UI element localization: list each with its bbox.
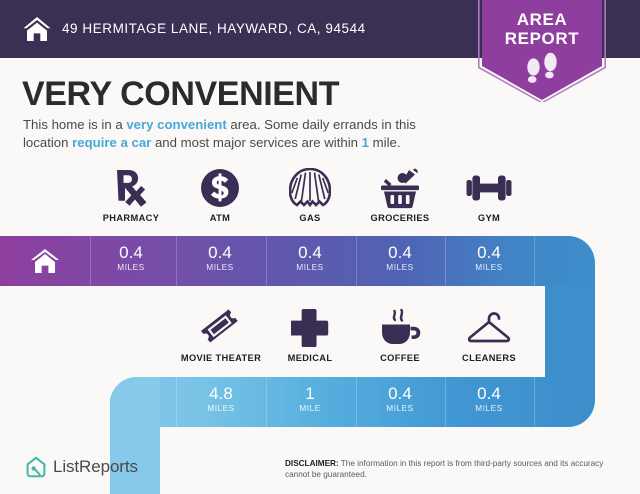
badge-line-2: REPORT — [478, 29, 606, 48]
icon-label: MOVIE THEATER — [176, 353, 266, 363]
distance-unit: MILES — [175, 262, 265, 273]
distance-cell-groceries: 0.4 MILES — [355, 236, 445, 286]
divider — [90, 236, 91, 286]
home-icon — [22, 14, 52, 44]
dollar-circle-icon — [175, 166, 265, 210]
distance-value: 4.8 — [176, 384, 266, 403]
distance-unit: MILES — [444, 262, 534, 273]
property-address: 49 HERMITAGE LANE, HAYWARD, CA, 94544 — [62, 21, 366, 36]
clothes-hanger-icon — [444, 306, 534, 350]
subtitle-part-4: mile. — [369, 135, 401, 150]
listreports-house-icon — [26, 456, 46, 478]
distance-value: 0.4 — [175, 243, 265, 262]
divider — [356, 377, 357, 427]
subtitle-highlight-1: very convenient — [126, 117, 226, 132]
page-subtitle: This home is in a very convenient area. … — [23, 116, 463, 151]
distance-unit: MILES — [444, 403, 534, 414]
medical-cross-icon — [265, 306, 355, 350]
distance-unit: MILES — [265, 262, 355, 273]
disclaimer: DISCLAIMER: The information in this repo… — [285, 458, 613, 481]
distance-value: 0.4 — [444, 243, 534, 262]
icon-cell-pharmacy: PHARMACY — [86, 166, 176, 223]
movie-ticket-icon — [176, 306, 266, 350]
icon-cell-atm: ATM — [175, 166, 265, 223]
subtitle-highlight-2: require a car — [72, 135, 151, 150]
distance-cell-gym: 0.4 MILES — [444, 236, 534, 286]
area-report-badge: AREA REPORT — [478, 0, 606, 102]
distance-cell-coffee: 0.4 MILES — [355, 377, 445, 427]
distance-unit: MILE — [265, 403, 355, 414]
listreports-logo: ListReports — [26, 456, 138, 478]
page-title: VERY CONVENIENT — [22, 75, 339, 114]
icon-cell-movie-theater: MOVIE THEATER — [176, 306, 266, 363]
icon-cell-medical: MEDICAL — [265, 306, 355, 363]
divider — [176, 236, 177, 286]
icon-cell-cleaners: CLEANERS — [444, 306, 534, 363]
icon-row-1: PHARMACY ATM — [0, 166, 640, 236]
distance-cell-atm: 0.4 MILES — [175, 236, 265, 286]
distance-value: 0.4 — [355, 243, 445, 262]
value-row-2: 4.8 MILES 1 MILE 0.4 MILES 0.4 MILES — [0, 377, 640, 427]
divider — [356, 236, 357, 286]
subtitle-part-3: and most major services are within — [151, 135, 361, 150]
icon-label: MEDICAL — [265, 353, 355, 363]
badge-text: AREA REPORT — [478, 10, 606, 48]
icon-cell-gas: GAS — [265, 166, 355, 223]
distance-value: 0.4 — [444, 384, 534, 403]
subtitle-part-1: This home is in a — [23, 117, 126, 132]
distance-cell-gas: 0.4 MILES — [265, 236, 355, 286]
icon-label: GYM — [444, 213, 534, 223]
subtitle-highlight-3: 1 — [362, 135, 369, 150]
gas-shell-icon — [265, 166, 355, 210]
icon-cell-groceries: GROCERIES — [355, 166, 445, 223]
area-report-page: 49 HERMITAGE LANE, HAYWARD, CA, 94544 AR… — [0, 0, 640, 494]
divider — [266, 236, 267, 286]
dumbbell-icon — [444, 166, 534, 210]
icon-label: GAS — [265, 213, 355, 223]
icon-row-2: MOVIE THEATER MEDICAL — [0, 306, 640, 376]
coffee-cup-icon — [355, 306, 445, 350]
icon-label: ATM — [175, 213, 265, 223]
value-row-1: 0.4 MILES 0.4 MILES 0.4 MILES 0.4 MILES … — [0, 236, 640, 286]
distance-cell-medical: 1 MILE — [265, 377, 355, 427]
divider — [445, 236, 446, 286]
grocery-basket-icon — [355, 166, 445, 210]
icon-label: PHARMACY — [86, 213, 176, 223]
icon-label: CLEANERS — [444, 353, 534, 363]
distance-unit: MILES — [86, 262, 176, 273]
distance-value: 0.4 — [265, 243, 355, 262]
distance-value: 0.4 — [355, 384, 445, 403]
distance-cell-pharmacy: 0.4 MILES — [86, 236, 176, 286]
icon-cell-gym: GYM — [444, 166, 534, 223]
distance-value: 0.4 — [86, 243, 176, 262]
divider — [534, 236, 535, 286]
icon-cell-coffee: COFFEE — [355, 306, 445, 363]
disclaimer-label: DISCLAIMER: — [285, 459, 339, 468]
icon-label: GROCERIES — [355, 213, 445, 223]
prescription-rx-icon — [86, 166, 176, 210]
icon-label: COFFEE — [355, 353, 445, 363]
listreports-logo-text: ListReports — [53, 457, 138, 477]
distance-value: 1 — [265, 384, 355, 403]
divider — [266, 377, 267, 427]
divider — [534, 377, 535, 427]
distance-cell-cleaners: 0.4 MILES — [444, 377, 534, 427]
divider — [176, 377, 177, 427]
divider — [445, 377, 446, 427]
distance-cell-movie-theater: 4.8 MILES — [176, 377, 266, 427]
distance-unit: MILES — [176, 403, 266, 414]
distance-unit: MILES — [355, 403, 445, 414]
badge-line-1: AREA — [478, 10, 606, 29]
distance-unit: MILES — [355, 262, 445, 273]
